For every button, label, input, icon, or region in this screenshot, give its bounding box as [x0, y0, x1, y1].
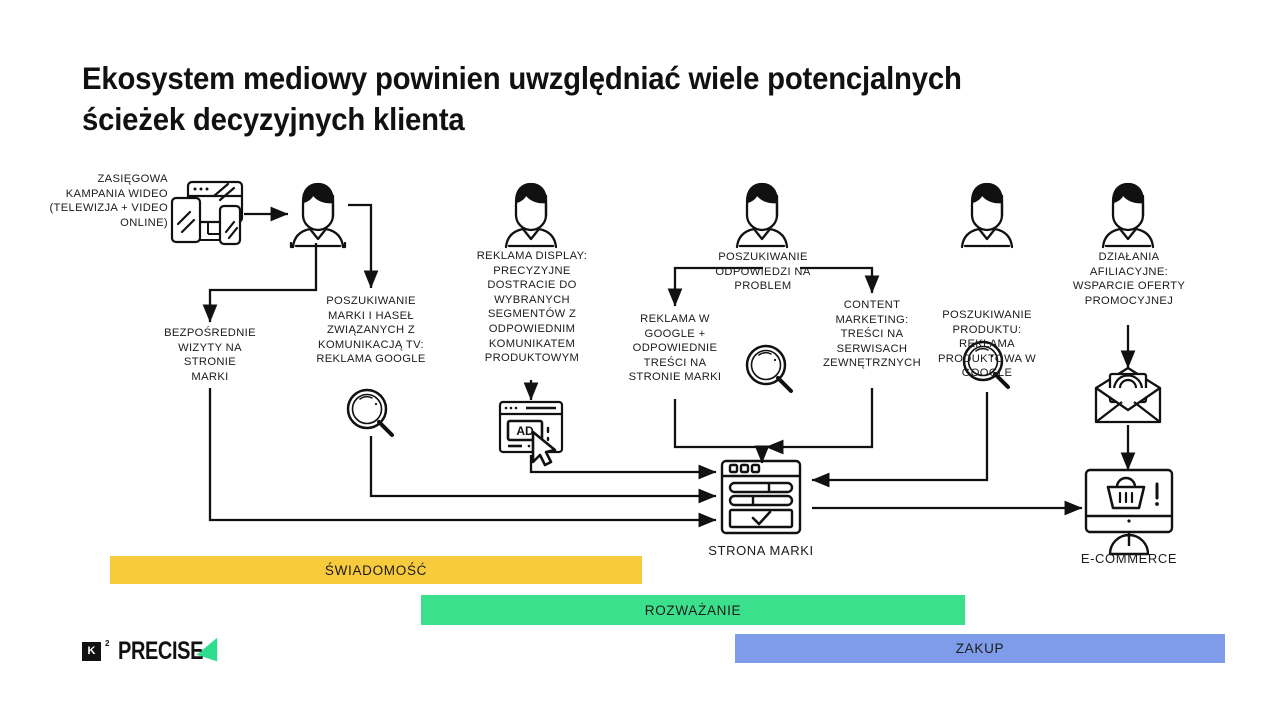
- logo-mark-k: K: [82, 642, 101, 661]
- person-icon: [1103, 184, 1153, 247]
- stage-bar-rozwazanie: ROZWAŻANIE: [421, 595, 965, 625]
- precise-logo: K 2 PRECISE: [82, 636, 225, 666]
- node-label-reklama-display: REKLAMA DISPLAY: PRECYZYJNE DOSTRACIE DO…: [465, 249, 599, 366]
- stage-label-rozwazanie: ROZWAŻANIE: [645, 603, 742, 618]
- monitor-cart-icon: [1086, 470, 1172, 554]
- slide-canvas: Ekosystem mediowy powinien uwzględniać w…: [0, 0, 1280, 720]
- node-label-poszukiwanie-marki: POSZUKIWANIE MARKI I HASEŁ ZWIĄZANYCH Z …: [305, 294, 437, 367]
- node-label-bezposrednie: BEZPOŚREDNIE WIZYTY NA STRONIE MARKI: [150, 326, 270, 384]
- node-label-strona-marki: STRONA MARKI: [691, 544, 831, 559]
- email-icon: [1096, 368, 1160, 422]
- svg-text:AD: AD: [516, 424, 534, 438]
- stage-bar-zakup: ZAKUP: [735, 634, 1225, 663]
- node-label-zasiegowa: ZASIĘGOWA KAMPANIA WIDEO (TELEWIZJA + VI…: [20, 172, 168, 230]
- stage-label-swiadomosc: ŚWIADOMOŚĆ: [325, 563, 427, 578]
- logo-wordmark-text: PRECISE: [118, 637, 203, 665]
- logo-wordmark: PRECISE: [118, 637, 203, 666]
- node-label-reklama-google: REKLAMA W GOOGLE + ODPOWIEDNIE TREŚCI NA…: [613, 312, 737, 385]
- browser-window-icon: [722, 461, 800, 533]
- person-icon: [962, 184, 1012, 247]
- node-label-e-commerce: E-COMMERCE: [1058, 552, 1200, 567]
- stage-bar-swiadomosc: ŚWIADOMOŚĆ: [110, 556, 642, 584]
- node-label-poszukiwanie-odpowiedzi: POSZUKIWANIE ODPOWIEDZI NA PROBLEM: [700, 250, 826, 294]
- node-label-dzialania-afiliacyjne: DZIAŁANIA AFILIACYJNE: WSPARCIE OFERTY P…: [1058, 250, 1200, 308]
- stage-label-zakup: ZAKUP: [956, 641, 1005, 656]
- person-icon: [506, 184, 556, 247]
- magnifier-icon: [747, 346, 791, 391]
- person-icon: [291, 184, 345, 247]
- node-label-poszukiwanie-produktu: POSZUKIWANIE PRODUKTU: REKLAMA PRODUKTOW…: [920, 308, 1054, 381]
- node-label-content-marketing: CONTENT MARKETING: TREŚCI NA SERWISACH Z…: [814, 298, 930, 371]
- magnifier-icon: [348, 390, 392, 435]
- person-icon: [737, 184, 787, 247]
- logo-superscript: 2: [105, 639, 109, 648]
- multi-device-icon: [172, 182, 242, 244]
